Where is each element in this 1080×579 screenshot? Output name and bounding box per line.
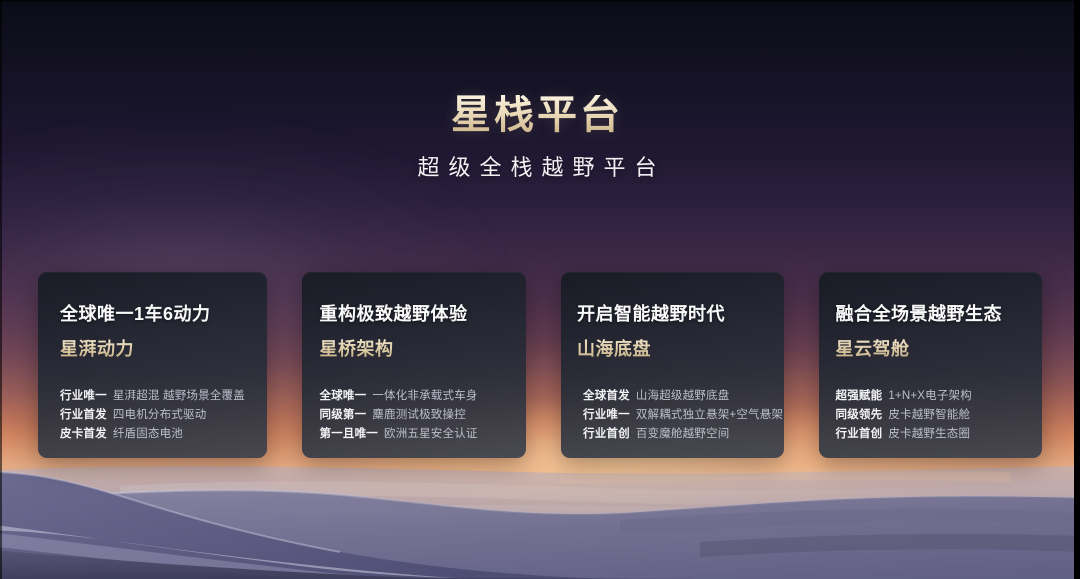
list-item: 行业首创 百变魔舱越野空间 bbox=[583, 427, 764, 442]
bullet-label: 同级领先 bbox=[836, 408, 883, 423]
bullet-label: 行业首创 bbox=[583, 427, 630, 442]
card-title: 开启智能越野时代 bbox=[577, 300, 764, 326]
card-subtitle: 山海底盘 bbox=[577, 335, 764, 361]
bullet-value: 双解耦式独立悬架+空气悬架 bbox=[636, 408, 783, 423]
bullet-label: 第一且唯一 bbox=[320, 427, 379, 442]
card-subtitle: 星桥架构 bbox=[320, 335, 507, 361]
bullet-label: 行业唯一 bbox=[583, 408, 630, 423]
list-item: 超强赋能 1+N+X电子架构 bbox=[836, 389, 1023, 404]
bullet-value: 纤盾固态电池 bbox=[113, 427, 183, 442]
letterbox-bar-right bbox=[1074, 0, 1080, 579]
card-title: 重构极致越野体验 bbox=[320, 300, 507, 326]
bullet-value: 皮卡越野智能舱 bbox=[888, 408, 970, 423]
bullet-label: 全球唯一 bbox=[320, 389, 367, 404]
card-subtitle: 星云驾舱 bbox=[836, 335, 1023, 361]
feature-card-chassis[interactable]: 开启智能越野时代 山海底盘 全球首发 山海超级越野底盘 行业唯一 双解耦式独立悬… bbox=[561, 272, 784, 458]
bullet-value: 山海超级越野底盘 bbox=[636, 389, 730, 404]
feature-card-powertrain[interactable]: 全球唯一1车6动力 星湃动力 行业唯一 星湃超混 越野场景全覆盖 行业首发 四电… bbox=[38, 272, 267, 458]
letterbox-bar-top bbox=[0, 0, 1080, 2]
bullet-value: 一体化非承载式车身 bbox=[372, 389, 477, 404]
bullet-value: 四电机分布式驱动 bbox=[113, 408, 207, 423]
feature-card-cockpit[interactable]: 融合全场景越野生态 星云驾舱 超强赋能 1+N+X电子架构 同级领先 皮卡越野智… bbox=[819, 272, 1043, 458]
presentation-slide: 星栈平台 超级全栈越野平台 全球唯一1车6动力 星湃动力 行业唯一 星湃超混 越… bbox=[0, 0, 1080, 579]
list-item: 行业唯一 双解耦式独立悬架+空气悬架 bbox=[583, 408, 764, 423]
list-item: 第一且唯一 欧洲五星安全认证 bbox=[320, 427, 507, 442]
feature-card-list: 全球唯一1车6动力 星湃动力 行业唯一 星湃超混 越野场景全覆盖 行业首发 四电… bbox=[38, 272, 1042, 458]
list-item: 行业首创 皮卡越野生态圈 bbox=[836, 427, 1023, 442]
list-item: 皮卡首发 纤盾固态电池 bbox=[60, 427, 247, 442]
list-item: 同级领先 皮卡越野智能舱 bbox=[836, 408, 1023, 423]
page-title: 星栈平台 bbox=[0, 95, 1074, 135]
bullet-value: 欧洲五星安全认证 bbox=[384, 427, 478, 442]
list-item: 行业首发 四电机分布式驱动 bbox=[60, 408, 247, 423]
card-title: 全球唯一1车6动力 bbox=[60, 300, 247, 326]
bullet-value: 星湃超混 越野场景全覆盖 bbox=[113, 389, 245, 404]
card-bullet-list: 全球首发 山海超级越野底盘 行业唯一 双解耦式独立悬架+空气悬架 行业首创 百变… bbox=[583, 389, 764, 442]
card-bullet-list: 超强赋能 1+N+X电子架构 同级领先 皮卡越野智能舱 行业首创 皮卡越野生态圈 bbox=[836, 389, 1023, 442]
bullet-label: 超强赋能 bbox=[836, 389, 883, 404]
list-item: 同级第一 麋鹿测试极致操控 bbox=[320, 408, 507, 423]
page-subtitle: 超级全栈越野平台 bbox=[0, 155, 1074, 181]
bullet-label: 全球首发 bbox=[583, 389, 630, 404]
bullet-value: 1+N+X电子架构 bbox=[888, 389, 972, 404]
list-item: 全球唯一 一体化非承载式车身 bbox=[320, 389, 507, 404]
list-item: 行业唯一 星湃超混 越野场景全覆盖 bbox=[60, 389, 247, 404]
bullet-value: 百变魔舱越野空间 bbox=[636, 427, 730, 442]
letterbox-bar-left bbox=[0, 0, 2, 579]
bullet-label: 同级第一 bbox=[320, 408, 367, 423]
card-title: 融合全场景越野生态 bbox=[836, 300, 1023, 326]
list-item: 全球首发 山海超级越野底盘 bbox=[583, 389, 764, 404]
bullet-value: 麋鹿测试极致操控 bbox=[372, 408, 466, 423]
card-bullet-list: 行业唯一 星湃超混 越野场景全覆盖 行业首发 四电机分布式驱动 皮卡首发 纤盾固… bbox=[60, 389, 247, 442]
bullet-label: 行业首创 bbox=[836, 427, 883, 442]
bullet-label: 行业首发 bbox=[60, 408, 107, 423]
card-subtitle: 星湃动力 bbox=[60, 335, 247, 361]
card-bullet-list: 全球唯一 一体化非承载式车身 同级第一 麋鹿测试极致操控 第一且唯一 欧洲五星安… bbox=[320, 389, 507, 442]
bullet-label: 皮卡首发 bbox=[60, 427, 107, 442]
bullet-label: 行业唯一 bbox=[60, 389, 107, 404]
slide-heading-block: 星栈平台 超级全栈越野平台 bbox=[0, 95, 1074, 181]
bullet-value: 皮卡越野生态圈 bbox=[888, 427, 970, 442]
feature-card-architecture[interactable]: 重构极致越野体验 星桥架构 全球唯一 一体化非承载式车身 同级第一 麋鹿测试极致… bbox=[302, 272, 527, 458]
